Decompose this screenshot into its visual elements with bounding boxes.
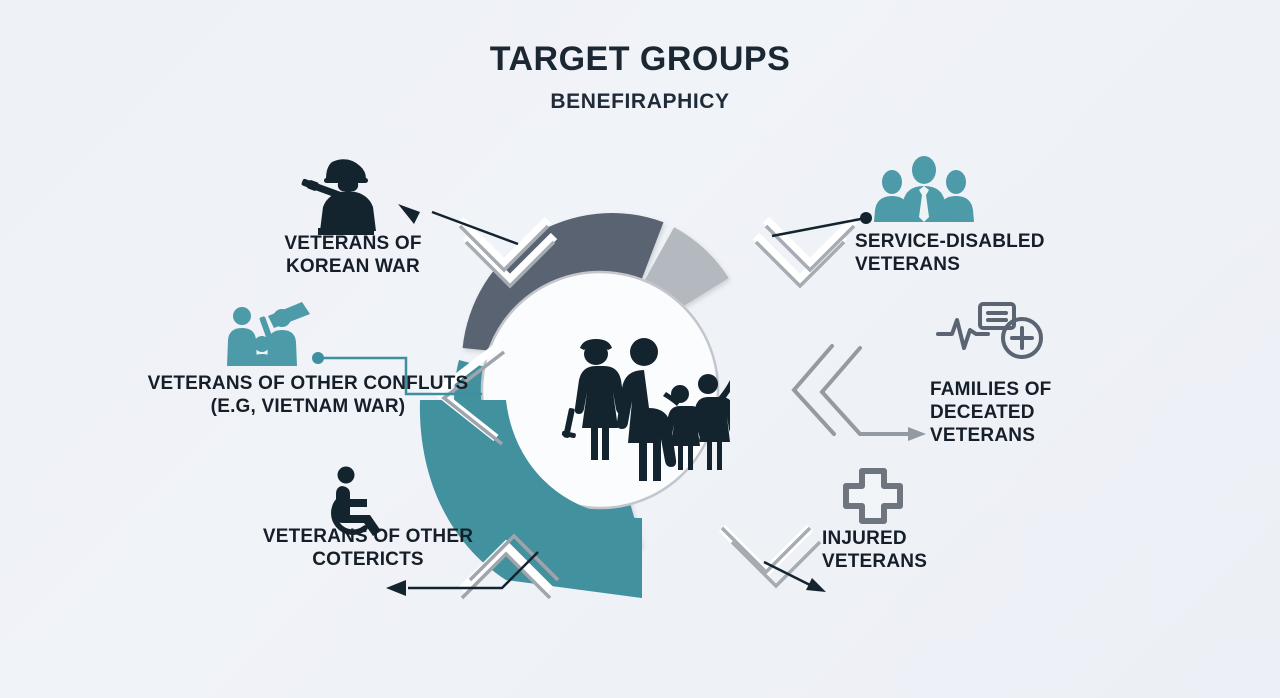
medical-record-heartbeat-icon	[936, 298, 1052, 364]
page-subtitle: BENEFIRAPHICY	[0, 90, 1280, 114]
medical-cross-icon	[840, 468, 906, 524]
group-people-icon	[874, 156, 974, 222]
label-veterans-other-conflicts: VETERANS OF OTHER CONFLUTS (E.G, VIETNAM…	[118, 372, 498, 418]
label-injured-veterans: INJURED VETERANS	[822, 527, 992, 573]
label-families-deceased-veterans: FAMILIES OF DECEATED VETERANS	[930, 378, 1100, 448]
label-veterans-korean-war: VETERANS OF KOREAN WAR	[253, 232, 453, 278]
chevron-left-arrow-right-icon	[788, 338, 928, 450]
family-graduation-icon	[224, 300, 312, 366]
page-title: TARGET GROUPS	[0, 42, 1280, 78]
label-veterans-other-cotericts: VETERANS OF OTHER COTERICTS	[228, 525, 508, 571]
header: TARGET GROUPS BENEFIRAPHICY	[0, 42, 1280, 114]
label-service-disabled-veterans: SERVICE-DISABLED VETERANS	[855, 230, 1085, 276]
connector-injured-veterans	[760, 556, 830, 596]
infographic-canvas: TARGET GROUPS BENEFIRAPHICY	[0, 0, 1280, 698]
family-silhouette-icon	[540, 332, 730, 482]
soldier-icon	[296, 152, 388, 236]
